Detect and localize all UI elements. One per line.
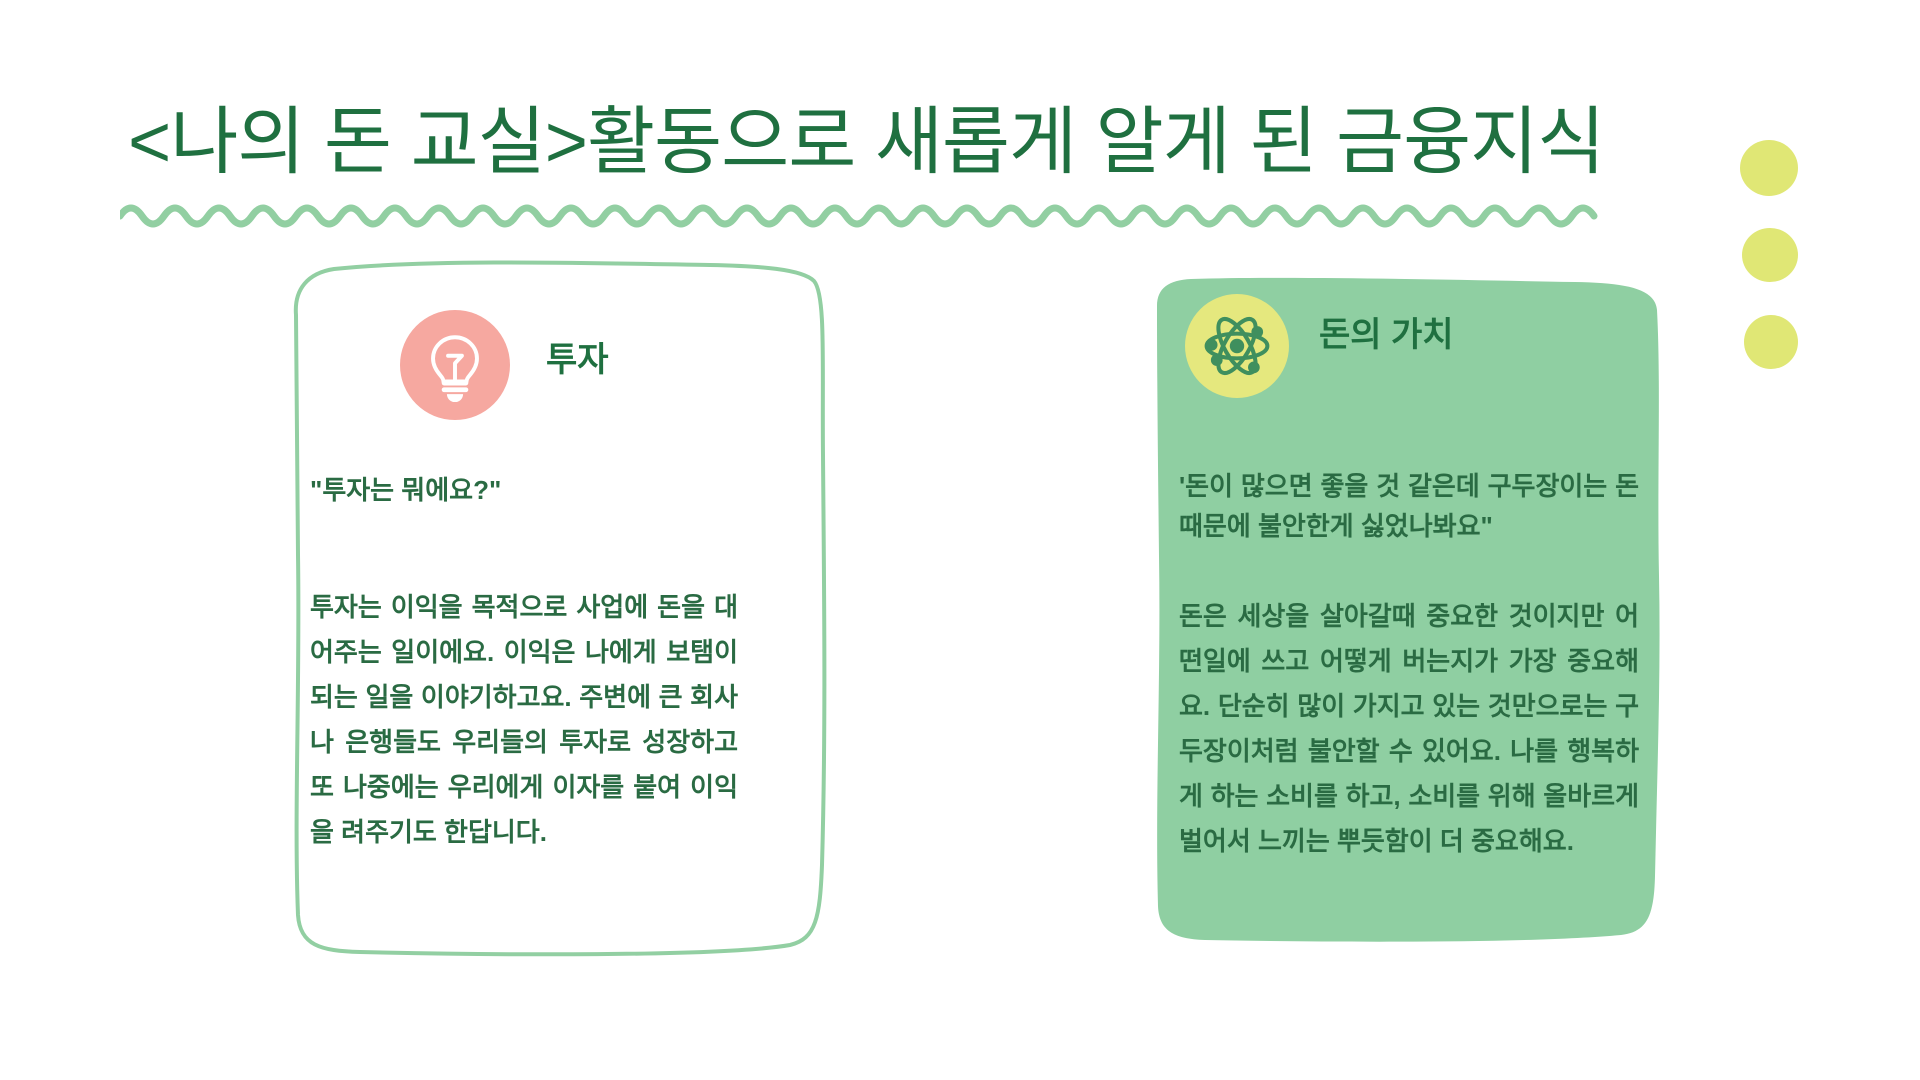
card-title-money-value: 돈의 가치 <box>1319 307 1454 356</box>
card-body-money-value: 돈은 세상을 살아갈때 중요한 것이지만 어떤일에 쓰고 어떻게 버는지가 가장… <box>1179 594 1639 864</box>
card-body-investment: 투자는 이익을 목적으로 사업에 돈을 대어주는 일이에요. 이익은 나에게 보… <box>310 585 738 855</box>
card-quote-investment: "투자는 뭐에요?" <box>310 470 810 510</box>
card-money-value: 돈의 가치 '돈이 많으면 좋을 것 같은데 구두장이는 돈때문에 불안한게 싫… <box>1155 276 1663 946</box>
card-quote-money-value: '돈이 많으면 좋을 것 같은데 구두장이는 돈때문에 불안한게 싫었나봐요" <box>1179 466 1639 546</box>
decorative-dot-3 <box>1744 315 1798 369</box>
page-title: <나의 돈 교실>활동으로 새롭게 알게 된 금융지식 <box>128 96 1728 188</box>
wavy-divider-icon <box>120 196 1612 230</box>
card-header-money-value: 돈의 가치 <box>1185 294 1454 398</box>
atom-icon <box>1185 294 1289 398</box>
lightbulb-icon <box>400 310 510 420</box>
card-title-investment: 투자 <box>546 332 609 381</box>
decorative-dot-1 <box>1740 140 1798 196</box>
title-block: <나의 돈 교실>활동으로 새롭게 알게 된 금융지식 <box>128 96 1728 226</box>
card-investment: 투자 "투자는 뭐에요?" 투자는 이익을 목적으로 사업에 돈을 대어주는 일… <box>290 255 830 960</box>
decorative-dot-2 <box>1742 228 1798 282</box>
card-header-investment: 투자 <box>400 310 609 420</box>
